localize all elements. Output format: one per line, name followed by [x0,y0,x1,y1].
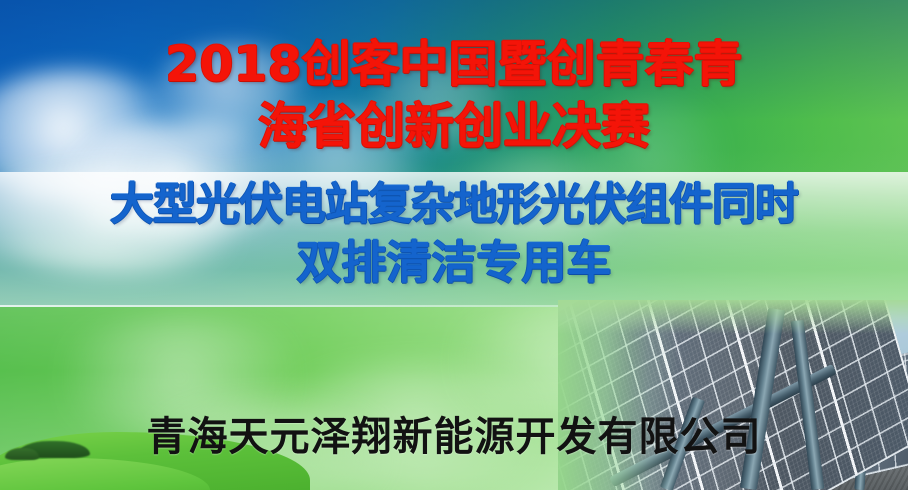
event-title-line-1: 2018创客中国暨创青春青 [0,34,908,96]
product-title-line-1: 大型光伏电站复杂地形光伏组件同时 [0,176,908,234]
promotional-poster: 2018创客中国暨创青春青 海省创新创业决赛 大型光伏电站复杂地形光伏组件同时 … [0,0,908,490]
company-name: 青海天元泽翔新能源开发有限公司 [0,414,908,460]
event-title-line-2: 海省创新创业决赛 [0,96,908,158]
product-title-line-2: 双排清洁专用车 [0,234,908,292]
solar-panel-array-image [558,300,908,490]
solar-photo-top-fade [558,300,908,334]
event-title: 2018创客中国暨创青春青 海省创新创业决赛 [0,34,908,158]
product-title: 大型光伏电站复杂地形光伏组件同时 双排清洁专用车 [0,176,908,292]
